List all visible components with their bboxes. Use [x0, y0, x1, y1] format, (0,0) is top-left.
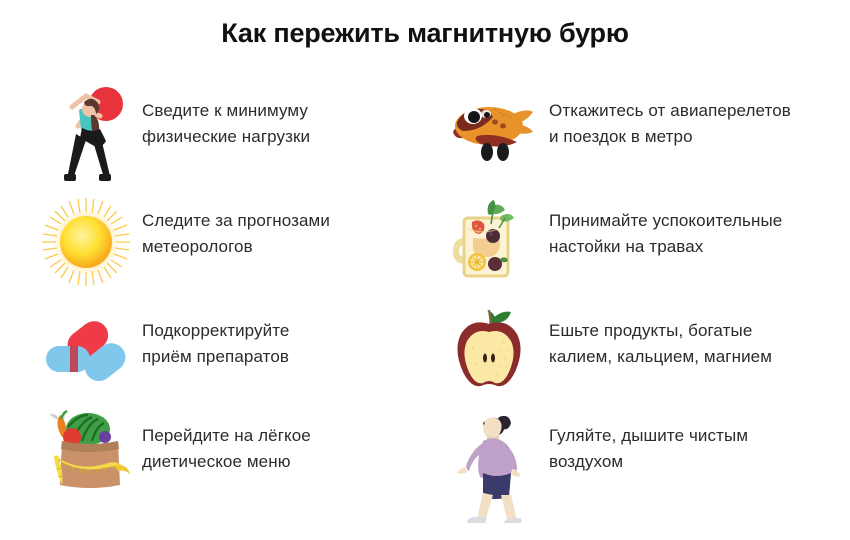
tip-item-minimize-physical-activity: Сведите к минимуму физические нагрузки — [0, 82, 425, 192]
tip-label: Подкорректируйте приём препаратов — [142, 302, 290, 370]
tips-grid: Сведите к минимуму физические нагрузки — [0, 82, 850, 527]
tip-item-take-herbal-sedatives: Принимайте успокоительные настойки на тр… — [425, 192, 850, 302]
tip-item-eat-potassium-rich-food: Ешьте продукты, богатые калием, кальцием… — [425, 302, 850, 407]
tip-item-watch-weather-forecasts: Следите за прогнозами метеорологов — [0, 192, 425, 302]
herbal-tea-mug-icon — [443, 192, 539, 296]
tip-label: Откажитесь от авиаперелетов и поездок в … — [549, 82, 791, 150]
walking-person-icon — [443, 407, 539, 511]
tip-label: Ешьте продукты, богатые калием, кальцием… — [549, 302, 772, 370]
page-title: Как пережить магнитную бурю — [0, 0, 850, 49]
tip-item-walk-and-breathe-fresh-air: Гуляйте, дышите чистым воздухом — [425, 407, 850, 527]
tip-label: Гуляйте, дышите чистым воздухом — [549, 407, 748, 475]
tip-label: Перейдите на лёгкое диетическое меню — [142, 407, 311, 475]
apple-half-icon — [443, 302, 539, 406]
pills-capsules-icon — [42, 302, 138, 406]
grocery-bag-with-measuring-tape-icon — [42, 407, 138, 511]
infographic-page: Как пережить магнитную бурю — [0, 0, 850, 540]
tip-item-switch-to-light-diet: Перейдите на лёгкое диетическое меню — [0, 407, 425, 527]
woman-exercising-with-ball-icon — [42, 82, 138, 186]
tip-item-avoid-flights-and-metro: Откажитесь от авиаперелетов и поездок в … — [425, 82, 850, 192]
airplane-icon — [443, 82, 539, 186]
sun-icon — [42, 192, 138, 296]
tip-label: Принимайте успокоительные настойки на тр… — [549, 192, 782, 260]
tip-label: Следите за прогнозами метеорологов — [142, 192, 330, 260]
tip-label: Сведите к минимуму физические нагрузки — [142, 82, 310, 150]
tip-item-adjust-medication: Подкорректируйте приём препаратов — [0, 302, 425, 407]
